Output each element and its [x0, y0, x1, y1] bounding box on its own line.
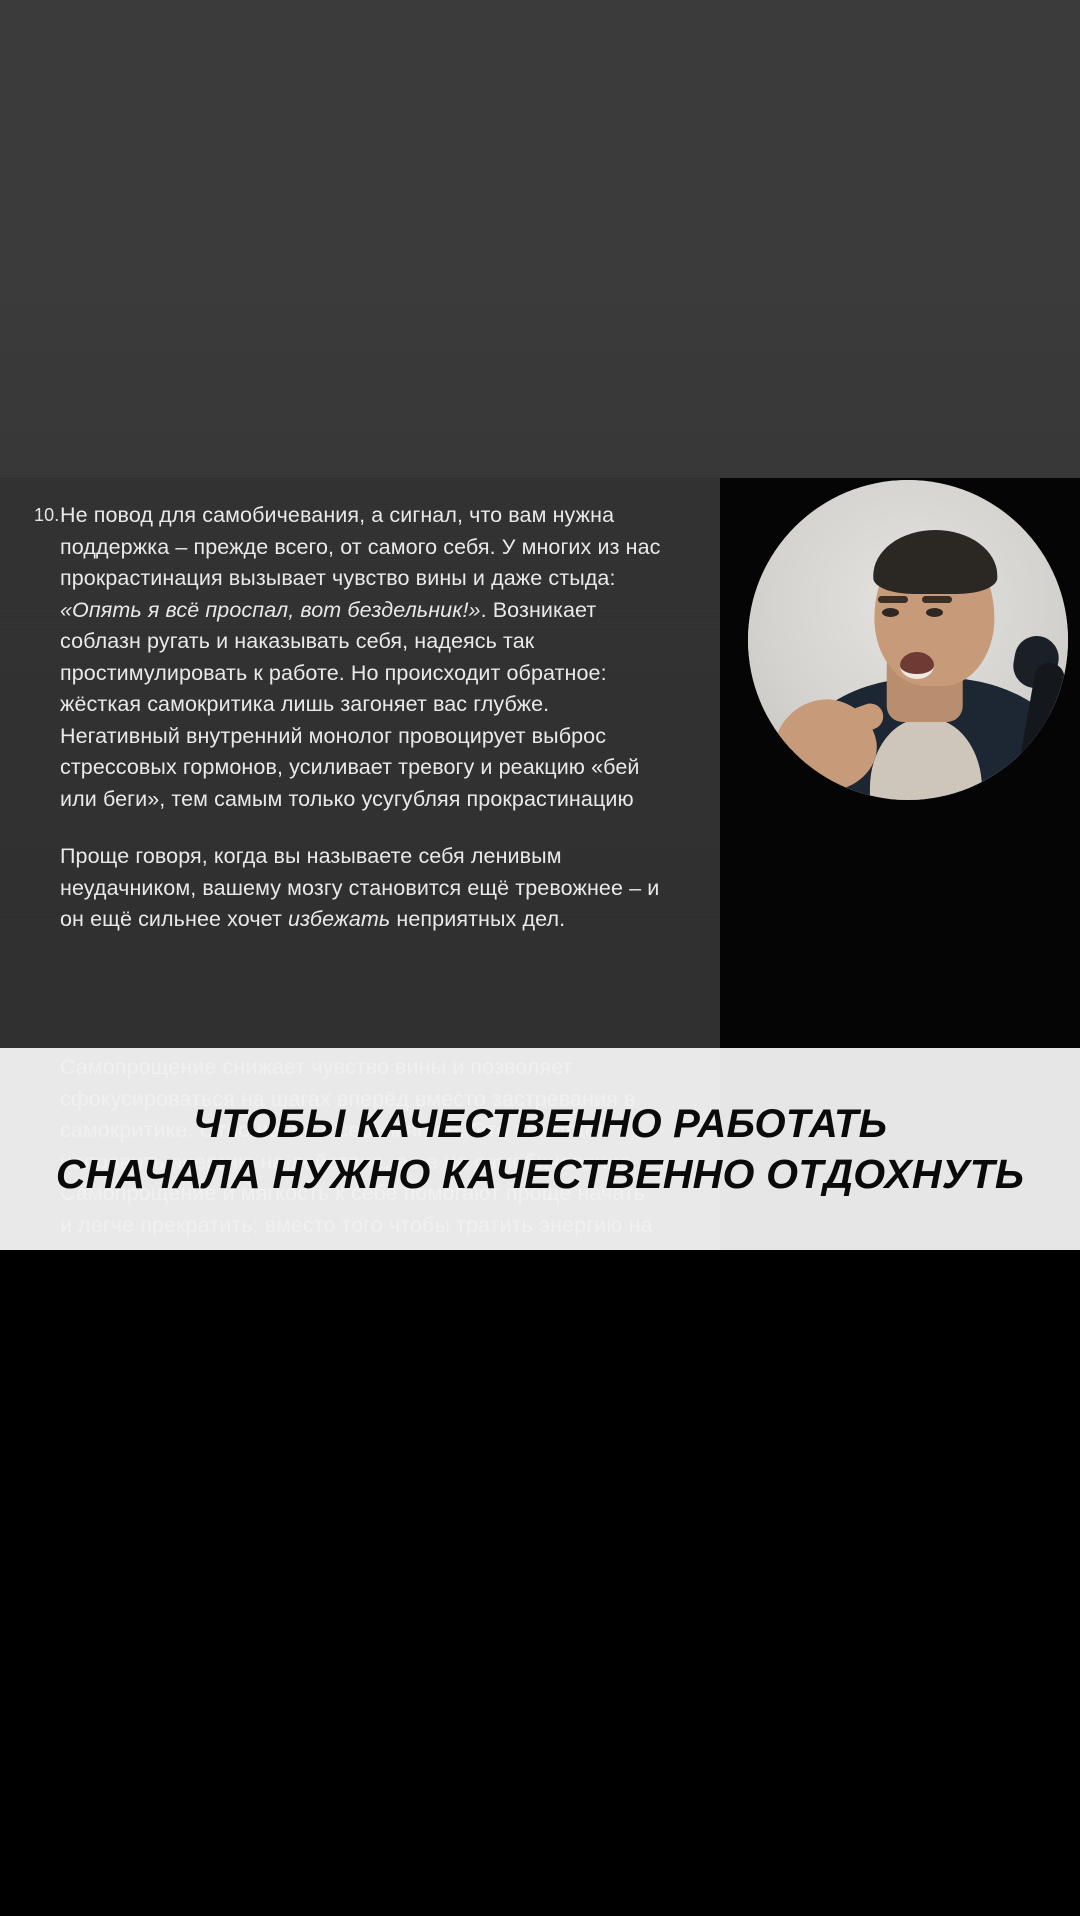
bottom-letterbox: [0, 1250, 1080, 1916]
speaker-video-bubble[interactable]: [748, 480, 1068, 800]
screenshare-top-band: [0, 0, 1080, 478]
paragraph-2: Проще говоря, когда вы называете себя ле…: [34, 841, 664, 936]
list-item: 10. Не повод для самобичевания, а сигнал…: [34, 500, 664, 815]
caption-line-1: ЧТОБЫ КАЧЕСТВЕННО РАБОТАТЬ: [193, 1099, 887, 1149]
list-item-number: 10.: [34, 500, 60, 532]
speaker-eye-left: [882, 608, 899, 617]
speaker-eyebrow-right: [922, 596, 952, 603]
list-item-text-part1: Не повод для самобичевания, а сигнал, чт…: [60, 503, 660, 590]
list-item-text-part2: . Возникает соблазн ругать и наказывать …: [60, 598, 640, 811]
caption-banner: ЧТОБЫ КАЧЕСТВЕННО РАБОТАТЬ СНАЧАЛА НУЖНО…: [0, 1048, 1080, 1250]
caption-line-2: СНАЧАЛА НУЖНО КАЧЕСТВЕННО ОТДОХНУТЬ: [56, 1149, 1024, 1199]
list-item-body: Не повод для самобичевания, а сигнал, чт…: [60, 500, 664, 815]
document-content: 10. Не повод для самобичевания, а сигнал…: [34, 500, 664, 936]
paragraph-2-part2: неприятных дел.: [390, 907, 565, 931]
list-item-quote: «Опять я всё проспал, вот бездельник!»: [60, 598, 481, 622]
screen-root: 10. Не повод для самобичевания, а сигнал…: [0, 0, 1080, 1916]
speaker-mouth: [900, 652, 934, 679]
paragraph-2-italic: избежать: [288, 907, 390, 931]
speaker-eye-right: [926, 608, 943, 617]
speaker-eyebrow-left: [878, 596, 908, 603]
